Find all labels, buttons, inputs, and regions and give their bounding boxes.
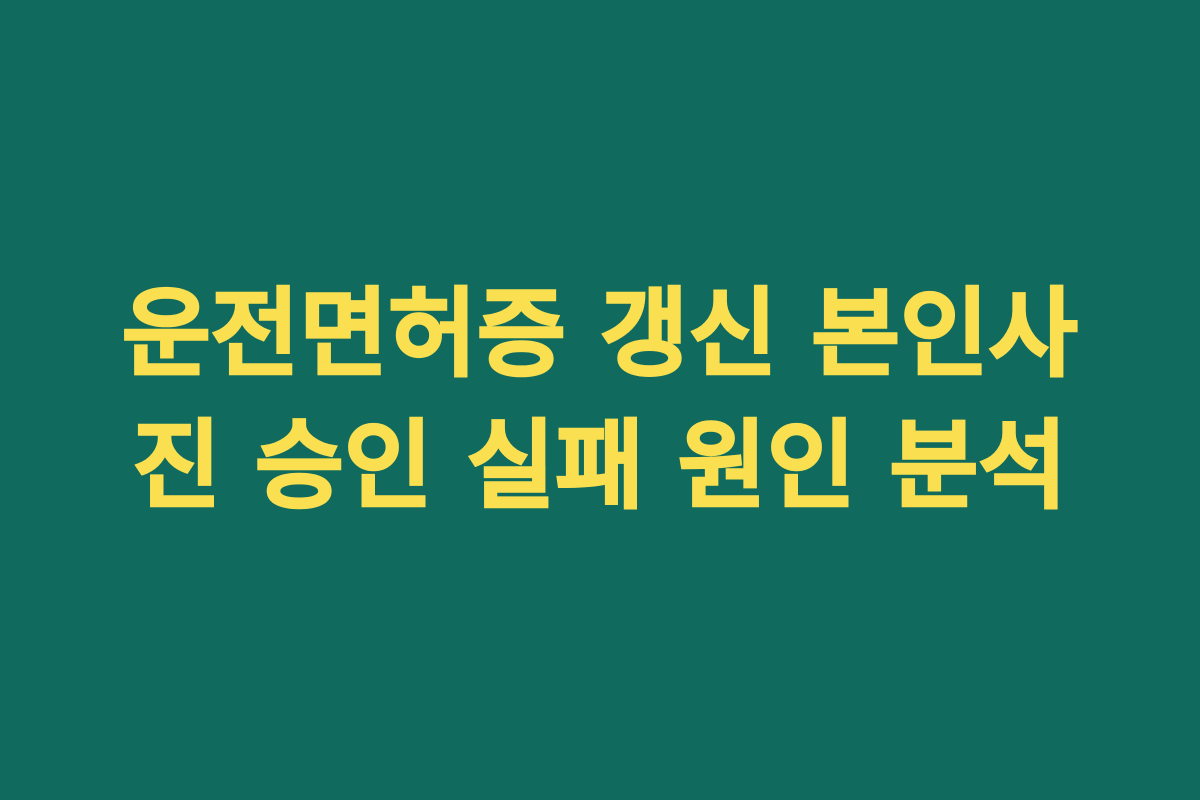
banner-headline: 운전면허증 갱신 본인사진 승인 실패 원인 분석	[105, 268, 1095, 533]
headline-block: 운전면허증 갱신 본인사진 승인 실패 원인 분석	[105, 268, 1095, 533]
banner-canvas: 운전면허증 갱신 본인사진 승인 실패 원인 분석	[0, 0, 1200, 800]
